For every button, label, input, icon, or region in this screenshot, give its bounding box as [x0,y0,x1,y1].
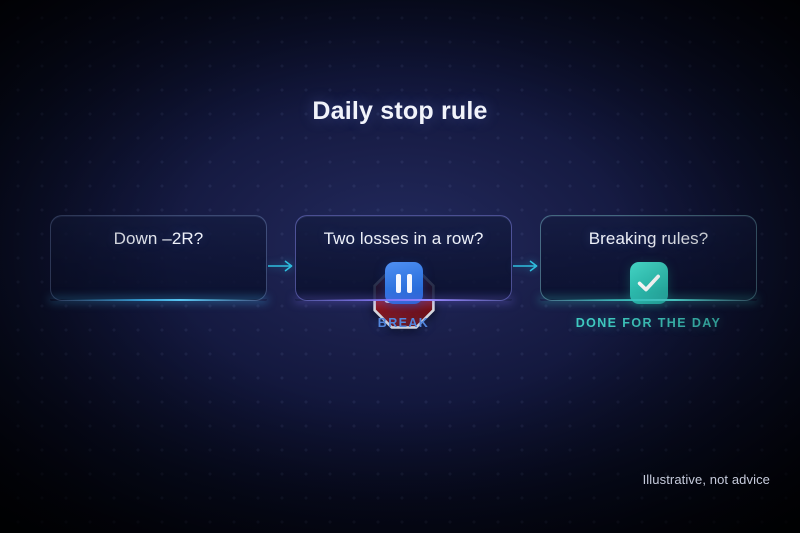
outcome-label-done: DONE FOR THE DAY [540,316,757,330]
flow-step-title-3: Breaking rules? [541,229,756,249]
page-title: Daily stop rule [0,97,800,126]
check-icon[interactable] [630,262,668,304]
flow-step-title-1: Down –2R? [51,229,266,249]
arrow-right-icon-2 [513,259,541,273]
arrow-right-icon-1 [268,259,296,273]
pause-bar-right [407,274,412,293]
outcome-label-break: BREAK [295,316,512,330]
flow-step-title-2: Two losses in a row? [296,229,511,249]
card-bottom-glow [540,299,757,301]
flow-step-card-1[interactable]: Down –2R? [50,215,267,301]
flow-step-card-3[interactable]: Breaking rules? [540,215,757,301]
flow-step-card-2[interactable]: Two losses in a row? [295,215,512,301]
pause-icon[interactable] [385,262,423,304]
card-bottom-glow [295,299,512,301]
flow-diagram: Down –2R? STOP [50,215,757,301]
pause-bar-left [396,274,401,293]
card-bottom-glow [50,299,267,301]
disclaimer-note: Illustrative, not advice [643,472,770,487]
slide-canvas: Daily stop rule Down –2R? STOP [0,0,800,533]
